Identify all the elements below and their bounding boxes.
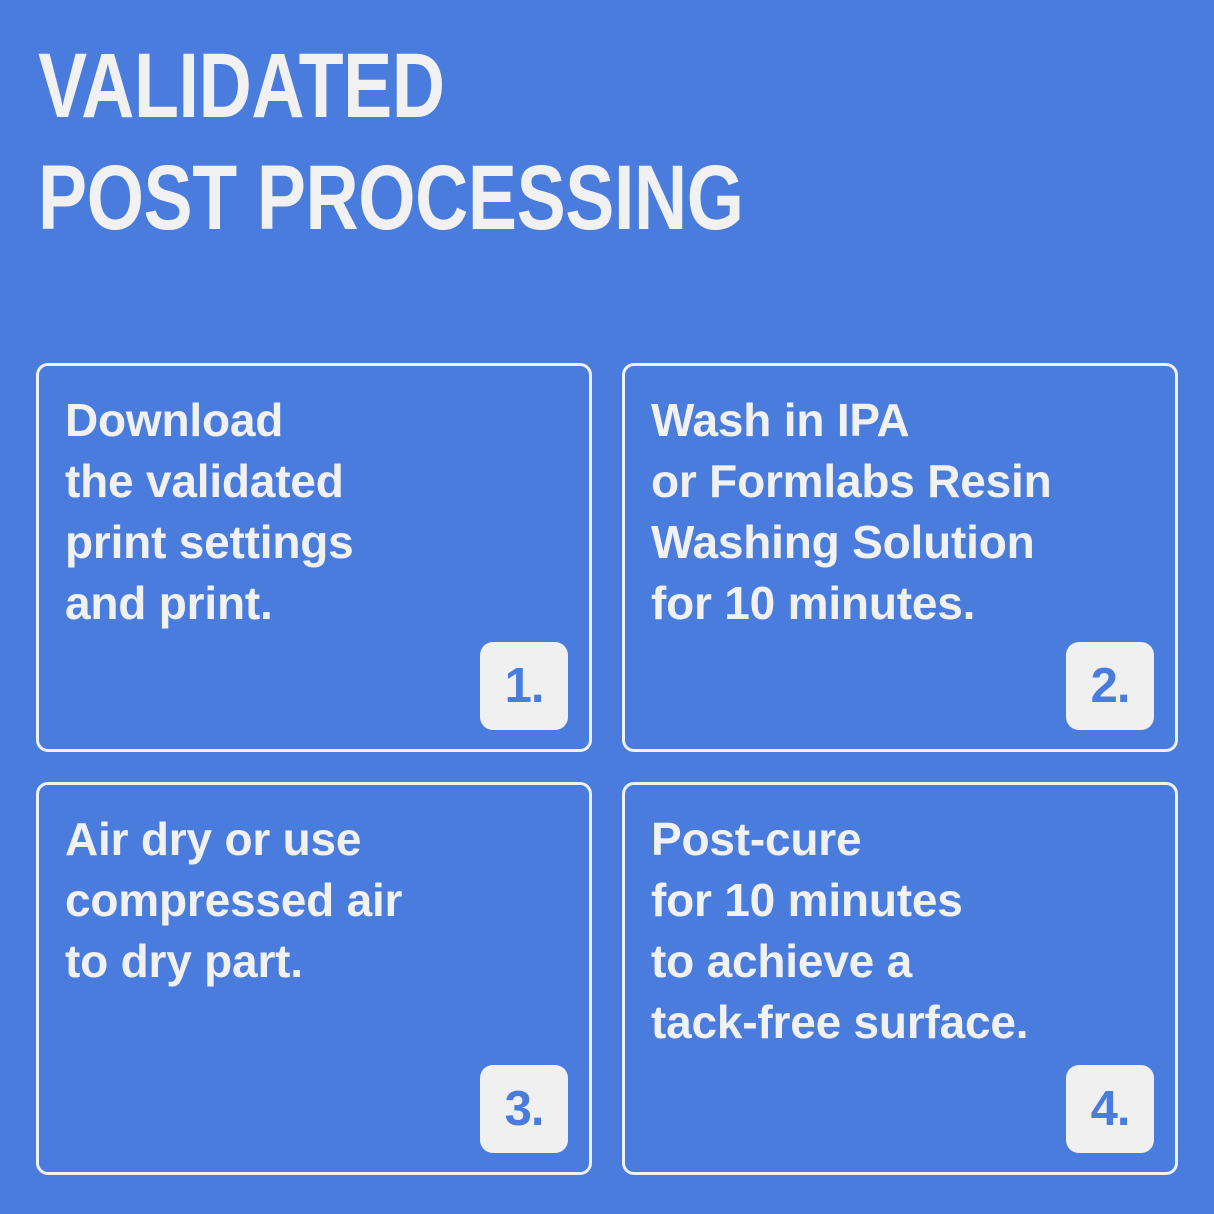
step-card-2-line-2: or Formlabs Resin bbox=[651, 451, 1149, 512]
step-card-3-line-2: compressed air bbox=[65, 870, 563, 931]
step-card-1: Download the validated print settings an… bbox=[36, 363, 592, 752]
page-title-line-2: POST PROCESSING bbox=[38, 142, 918, 254]
step-badge-1: 1. bbox=[480, 642, 568, 730]
step-badge-4: 4. bbox=[1066, 1065, 1154, 1153]
step-badge-2-label: 2. bbox=[1091, 662, 1130, 711]
step-card-2-line-1: Wash in IPA bbox=[651, 390, 1149, 451]
step-card-2: Wash in IPA or Formlabs Resin Washing So… bbox=[622, 363, 1178, 752]
step-badge-3-label: 3. bbox=[505, 1085, 544, 1134]
step-card-4-line-4: tack-free surface. bbox=[651, 992, 1149, 1053]
step-badge-4-label: 4. bbox=[1091, 1085, 1130, 1134]
step-card-4: Post-cure for 10 minutes to achieve a ta… bbox=[622, 782, 1178, 1175]
step-card-1-line-1: Download bbox=[65, 390, 563, 451]
steps-grid: Download the validated print settings an… bbox=[36, 363, 1178, 1175]
step-card-2-text: Wash in IPA or Formlabs Resin Washing So… bbox=[651, 390, 1149, 634]
step-badge-1-label: 1. bbox=[505, 662, 544, 711]
step-card-2-line-3: Washing Solution bbox=[651, 512, 1149, 573]
step-card-1-line-4: and print. bbox=[65, 573, 563, 634]
step-card-4-line-3: to achieve a bbox=[651, 931, 1149, 992]
step-card-3-text: Air dry or use compressed air to dry par… bbox=[65, 809, 563, 992]
page-title-line-1: VALIDATED bbox=[38, 30, 918, 142]
step-card-1-line-2: the validated bbox=[65, 451, 563, 512]
step-card-1-text: Download the validated print settings an… bbox=[65, 390, 563, 634]
step-card-3-line-1: Air dry or use bbox=[65, 809, 563, 870]
step-card-4-text: Post-cure for 10 minutes to achieve a ta… bbox=[651, 809, 1149, 1053]
step-card-2-line-4: for 10 minutes. bbox=[651, 573, 1149, 634]
step-card-3-line-3: to dry part. bbox=[65, 931, 563, 992]
step-card-4-line-1: Post-cure bbox=[651, 809, 1149, 870]
step-card-4-line-2: for 10 minutes bbox=[651, 870, 1149, 931]
page-title: VALIDATED POST PROCESSING bbox=[38, 30, 1138, 254]
step-card-3: Air dry or use compressed air to dry par… bbox=[36, 782, 592, 1175]
step-badge-3: 3. bbox=[480, 1065, 568, 1153]
post-processing-poster: VALIDATED POST PROCESSING Download the v… bbox=[0, 0, 1214, 1214]
step-badge-2: 2. bbox=[1066, 642, 1154, 730]
step-card-1-line-3: print settings bbox=[65, 512, 563, 573]
